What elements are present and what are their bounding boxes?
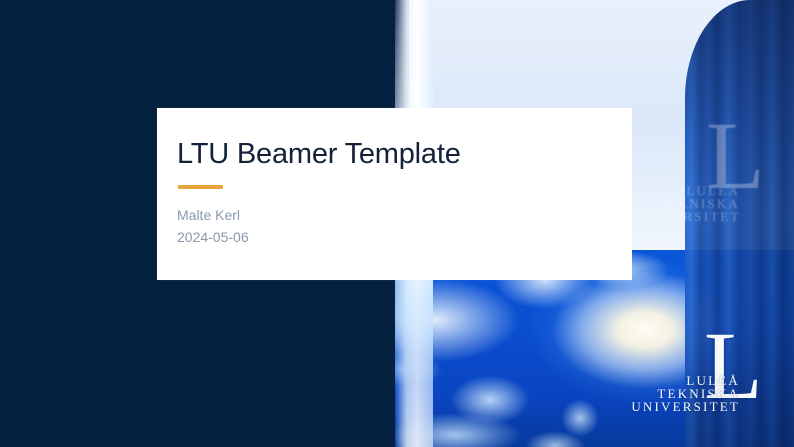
title-card: LTU Beamer Template Malte Kerl 2024-05-0… <box>157 108 632 280</box>
ltu-logo-wordmark: LULEÅ TEKNISKA UNIVERSITET <box>620 374 740 413</box>
title-meta: Malte Kerl 2024-05-06 <box>177 205 616 248</box>
accent-rule <box>178 185 223 189</box>
title-slide: L LULEÅ TEKNISKA UNIVERSITET L LULEÅ TEK… <box>0 0 794 447</box>
author-name: Malte Kerl <box>177 205 616 227</box>
page-title: LTU Beamer Template <box>177 138 616 171</box>
ltu-logo-line-3: UNIVERSITET <box>620 400 740 413</box>
ltu-logo-line-3: UNIVERSITET <box>632 210 740 223</box>
ltu-logo-wordmark: LULEÅ TEKNISKA UNIVERSITET <box>632 184 740 223</box>
presentation-date: 2024-05-06 <box>177 227 616 249</box>
title-card-content: LTU Beamer Template Malte Kerl 2024-05-0… <box>177 138 616 249</box>
